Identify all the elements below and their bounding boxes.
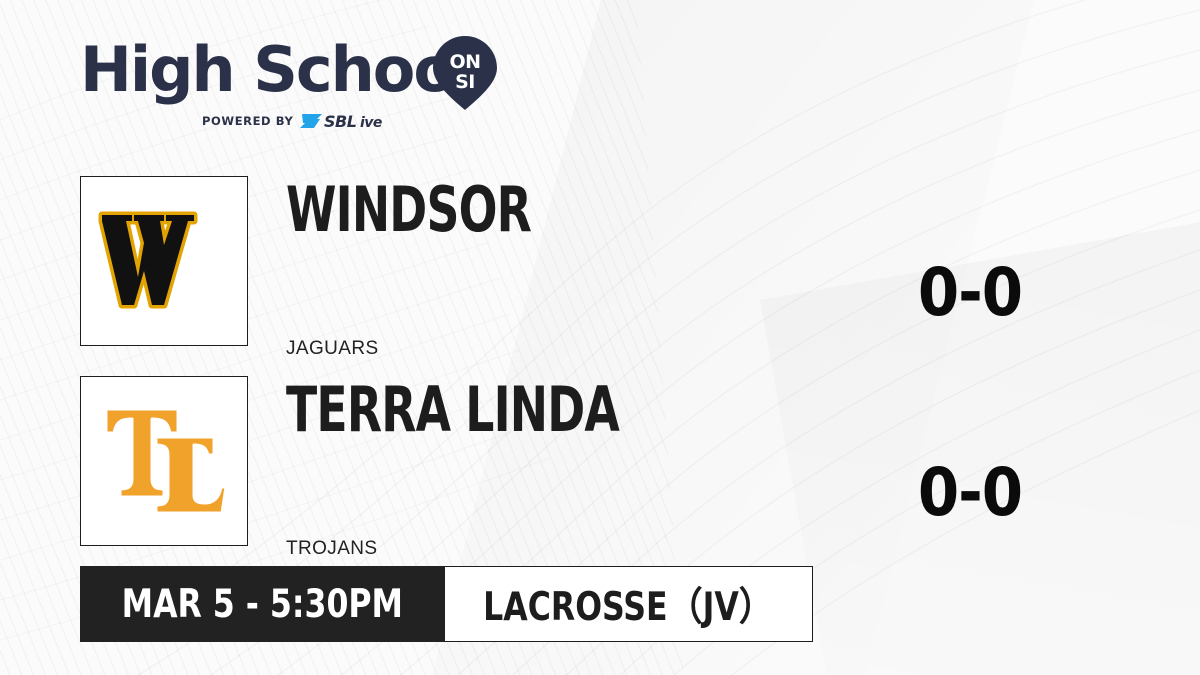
svg-text:ive: ive bbox=[360, 115, 382, 131]
game-datetime-text: MAR 5 - 5:30PM bbox=[122, 582, 403, 627]
svg-text:SI: SI bbox=[455, 71, 475, 93]
game-sport-block: LACROSSE（JV） bbox=[445, 566, 813, 642]
brand-logo: High School ON SI POWERED BY SBL ive bbox=[80, 34, 510, 139]
powered-by-label: POWERED BY bbox=[202, 114, 293, 128]
team-mascot-home: TROJANS bbox=[286, 538, 377, 560]
team-name-away: WINDSOR bbox=[286, 178, 794, 242]
on-si-pin-icon: ON SI bbox=[433, 36, 497, 110]
powered-by-lockup: POWERED BY SBL ive bbox=[202, 111, 402, 131]
score-home: 0-0 bbox=[860, 460, 1080, 526]
team-logo-away bbox=[80, 176, 248, 346]
sblive-logo-icon: SBL ive bbox=[300, 111, 402, 131]
score-away: 0-0 bbox=[860, 260, 1080, 326]
team-info-home: TERRA LINDA TROJANS bbox=[286, 376, 906, 572]
svg-text:ON: ON bbox=[449, 51, 480, 73]
team-logo-home bbox=[80, 376, 248, 546]
game-info-bar: MAR 5 - 5:30PM LACROSSE（JV） bbox=[80, 566, 813, 642]
team-info-away: WINDSOR JAGUARS bbox=[286, 176, 906, 372]
game-datetime-block: MAR 5 - 5:30PM bbox=[80, 566, 445, 642]
svg-text:SBL: SBL bbox=[324, 112, 357, 131]
game-sport-text: LACROSSE（JV） bbox=[483, 576, 774, 632]
scoreboard-graphic: High School ON SI POWERED BY SBL ive bbox=[0, 0, 1200, 675]
team-mascot-away: JAGUARS bbox=[286, 338, 379, 360]
team-name-home: TERRA LINDA bbox=[286, 378, 794, 442]
